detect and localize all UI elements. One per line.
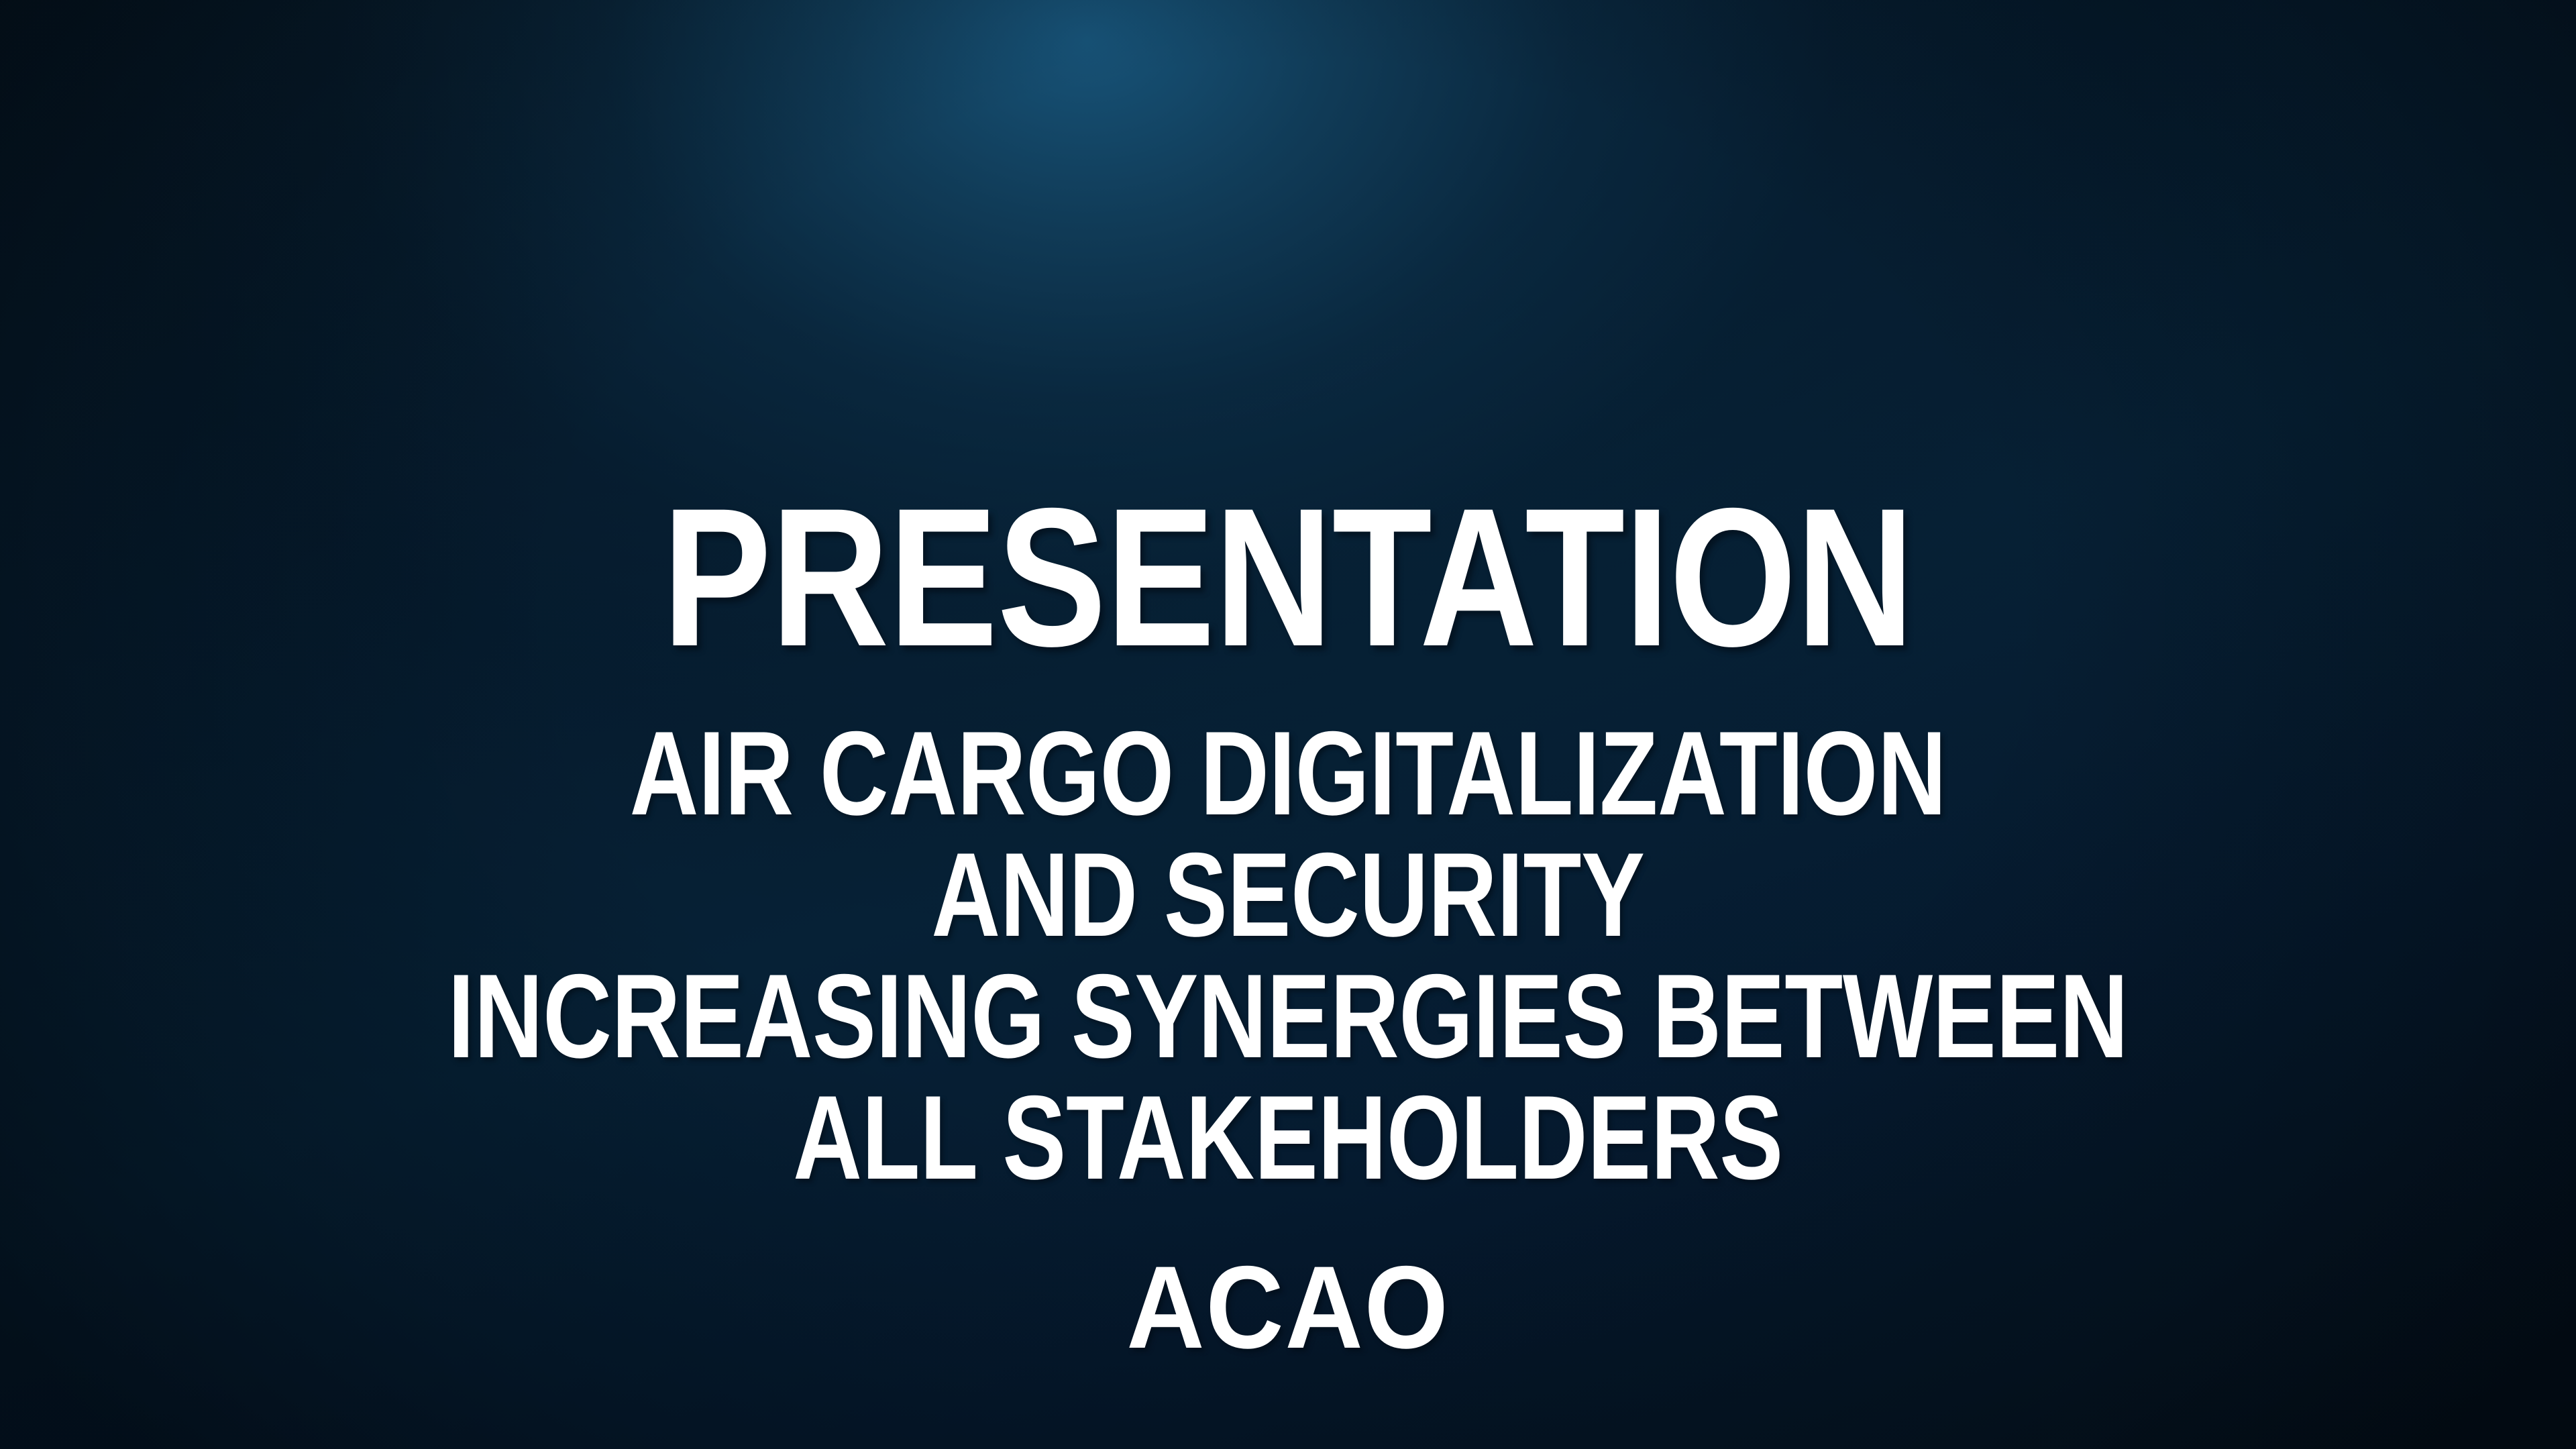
organization-name: ACAO bbox=[103, 1249, 2473, 1366]
subtitle-line-1: AIR CARGO DIGITALIZATION bbox=[258, 712, 2318, 834]
slide-subtitle: AIR CARGO DIGITALIZATION AND SECURITY IN… bbox=[258, 712, 2318, 1198]
subtitle-line-3: INCREASING SYNERGIES BETWEEN bbox=[258, 955, 2318, 1077]
title-slide: PRESENTATION AIR CARGO DIGITALIZATION AN… bbox=[0, 0, 2576, 1449]
slide-content: PRESENTATION AIR CARGO DIGITALIZATION AN… bbox=[0, 0, 2576, 1449]
subtitle-line-2: AND SECURITY bbox=[258, 834, 2318, 955]
subtitle-line-4: ALL STAKEHOLDERS bbox=[258, 1077, 2318, 1198]
slide-title: PRESENTATION bbox=[219, 479, 2357, 676]
